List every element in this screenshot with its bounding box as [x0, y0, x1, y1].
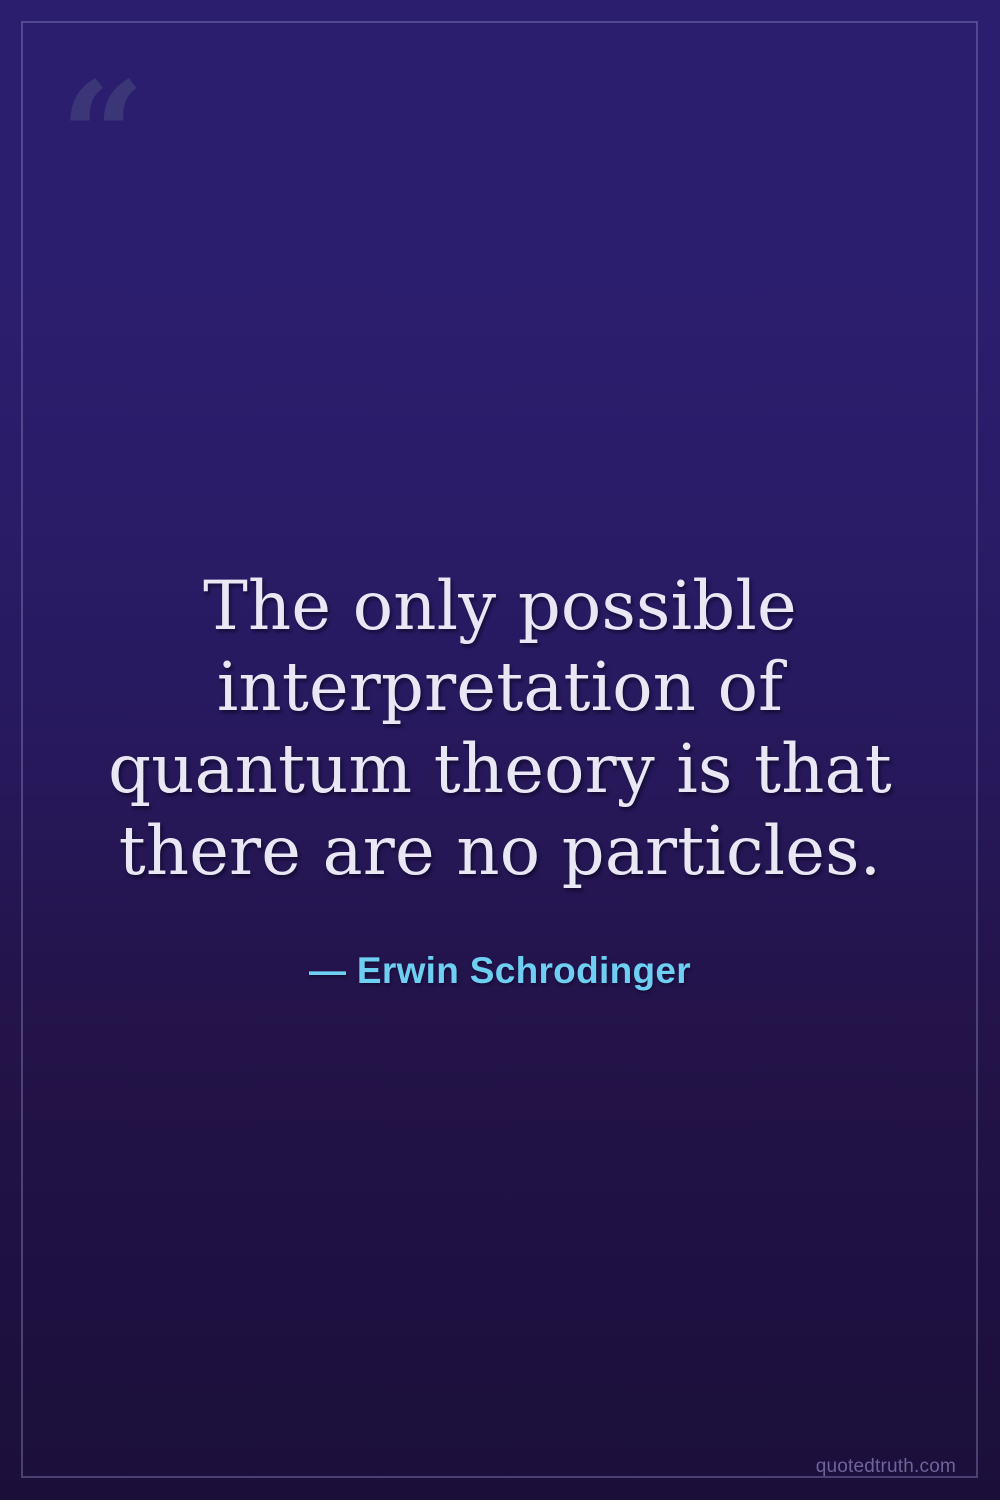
site-watermark: quotedtruth.com — [816, 1456, 956, 1478]
quote-card: “ The only possible interpretation of qu… — [0, 0, 1000, 1500]
quote-content: The only possible interpretation of quan… — [0, 0, 1000, 1500]
quote-text: The only possible interpretation of quan… — [105, 566, 895, 893]
quote-author: — Erwin Schrodinger — [309, 950, 691, 992]
